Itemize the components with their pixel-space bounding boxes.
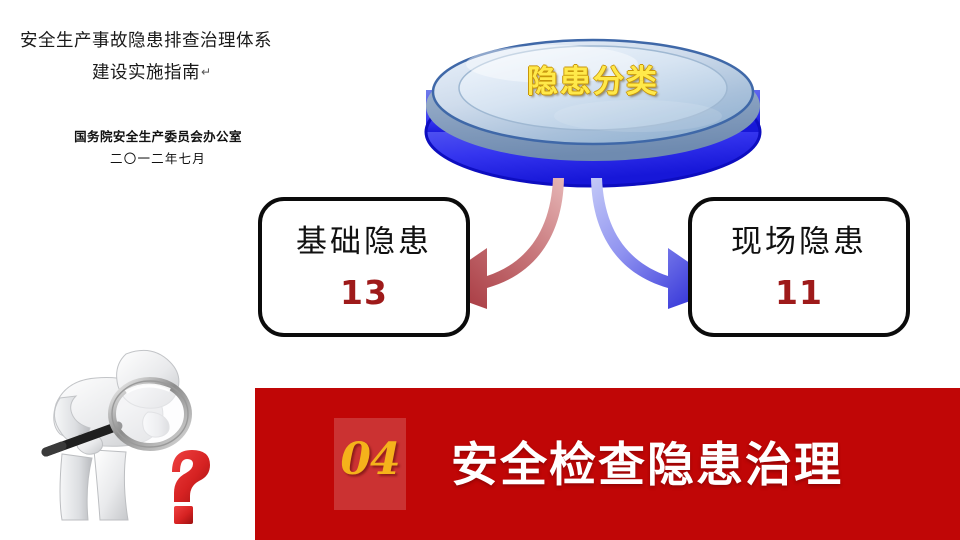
document-issuer: 国务院安全生产委员会办公室 [8,126,308,148]
section-number: 04 [334,434,406,485]
category-count-onsite-hazards: 11 [692,273,906,312]
document-title-line-2: 建设实施指南↵ [8,57,328,89]
hazard-classification-disc: 隐患分类 [424,12,762,188]
document-title-block: 安全生产事故隐患排查治理体系 建设实施指南↵ [8,26,328,89]
paragraph-mark-icon: ↵ [201,65,212,79]
disc-label: 隐患分类 [424,56,762,101]
category-box-basic-hazards[interactable]: 基础隐患 13 [258,197,470,337]
section-number-chip: 04 [334,418,406,510]
inspector-with-magnifier-illustration [22,342,254,540]
document-title-line-2-text: 建设实施指南 [92,63,200,83]
category-box-onsite-hazards[interactable]: 现场隐患 11 [688,197,910,337]
document-issuer-block: 国务院安全生产委员会办公室 二〇一二年七月 [8,126,308,170]
category-label-onsite-hazards: 现场隐患 [692,223,906,261]
section-banner: 04 安全检查隐患治理 [255,388,960,540]
document-date: 二〇一二年七月 [8,148,308,170]
category-count-basic-hazards: 13 [262,273,466,312]
category-label-basic-hazards: 基础隐患 [262,223,466,261]
slide-canvas: 安全生产事故隐患排查治理体系 建设实施指南↵ 国务院安全生产委员会办公室 二〇一… [0,0,960,540]
document-title-line-1: 安全生产事故隐患排查治理体系 [8,26,328,57]
section-title: 安全检查隐患治理 [451,426,843,495]
inspector-figure-shape [22,342,254,540]
